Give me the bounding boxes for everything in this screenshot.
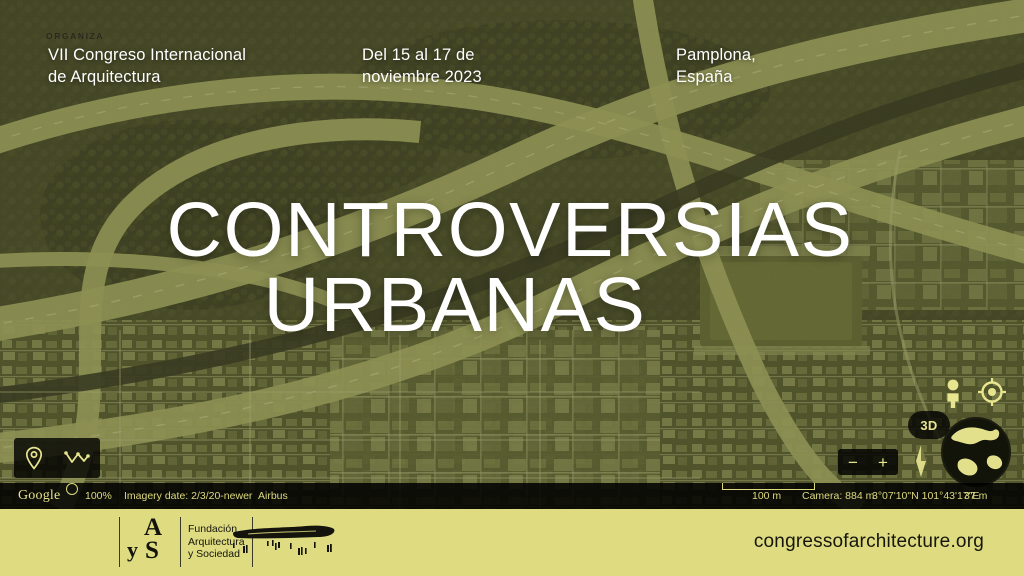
imagery-provider-label: Airbus xyxy=(258,483,288,509)
congress-dates: Del 15 al 17 de noviembre 2023 xyxy=(362,44,482,88)
page-title: CONTROVERSIAS URBANAS xyxy=(0,193,1024,343)
route-icon[interactable] xyxy=(64,449,90,467)
logo-divider-right xyxy=(180,517,181,567)
logo-divider-left xyxy=(119,517,120,567)
map-pin-icon[interactable] xyxy=(24,446,44,470)
globe-icon[interactable] xyxy=(934,410,1018,490)
logo-letter-y: y xyxy=(127,539,138,561)
google-logo[interactable]: Google xyxy=(18,483,60,509)
circle-icon[interactable] xyxy=(66,483,78,495)
map-status-bar: Google 100% Imagery date: 2/3/20-newer A… xyxy=(0,483,1024,509)
zoom-controls[interactable]: − + xyxy=(838,449,898,475)
poster-root: VII Congreso Internacional de Arquitectu… xyxy=(0,0,1024,576)
compass-needle-icon[interactable] xyxy=(908,443,934,479)
camera-altitude-label: Camera: 884 m xyxy=(802,483,874,509)
zoom-out-button[interactable]: − xyxy=(848,454,858,471)
website-url[interactable]: congressofarchitecture.org xyxy=(754,531,984,553)
ink-brush-logo[interactable] xyxy=(230,521,340,563)
logo-letter-s: S xyxy=(145,538,159,563)
header-info: VII Congreso Internacional de Arquitectu… xyxy=(0,44,1024,114)
title-line-1: CONTROVERSIAS xyxy=(0,193,1024,268)
zoom-in-button[interactable]: + xyxy=(878,454,888,471)
map-tools-panel[interactable] xyxy=(14,438,100,478)
pegman-icon[interactable] xyxy=(940,378,966,408)
logo-monogram: A S y xyxy=(127,517,173,567)
zoom-percent-label: 100% xyxy=(85,483,112,509)
scale-label: 100 m xyxy=(752,483,781,509)
elevation-label: 37 m xyxy=(964,483,987,509)
organiza-label: ORGANIZA xyxy=(46,31,104,41)
congress-title: VII Congreso Internacional de Arquitectu… xyxy=(48,44,246,88)
imagery-date-label: Imagery date: 2/3/20-newer xyxy=(124,483,252,509)
congress-location: Pamplona, España xyxy=(676,44,756,88)
locate-target-icon[interactable] xyxy=(978,378,1006,406)
title-line-2: URBANAS xyxy=(0,268,1024,343)
